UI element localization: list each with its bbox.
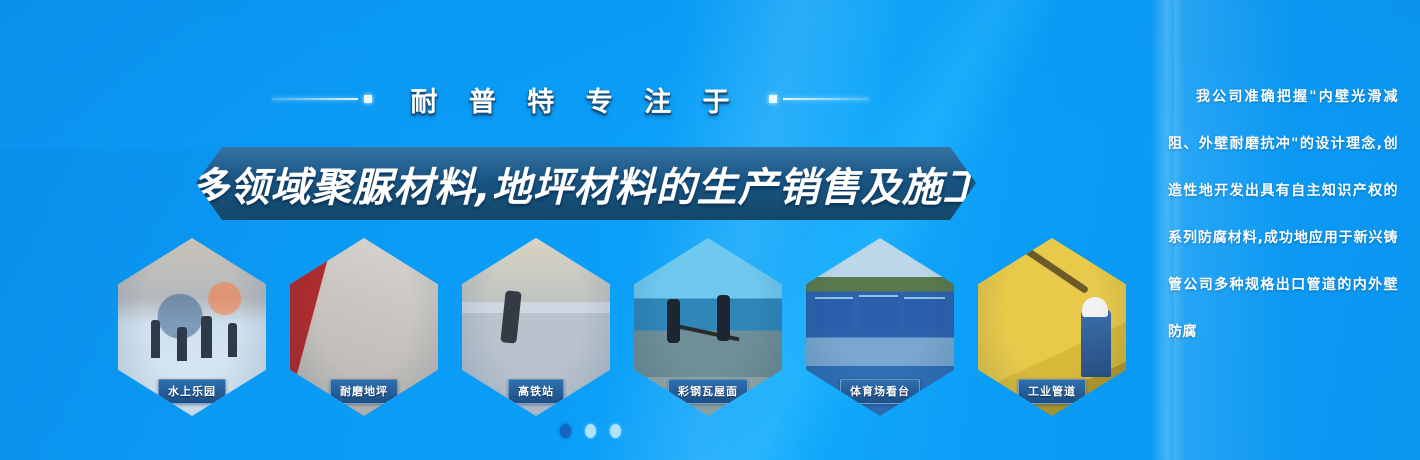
hexagon-item-pipeline[interactable]: 工业管道: [978, 238, 1126, 416]
headline-plate: 多领域聚脲材料,地坪材料的生产销售及施工: [196, 147, 976, 220]
carousel-dot-1[interactable]: [560, 424, 571, 438]
hexagon-label: 彩钢瓦屋面: [668, 379, 748, 404]
decorative-line-dot: [769, 95, 777, 103]
carousel-dot-3[interactable]: [610, 424, 621, 438]
hexagon-label: 工业管道: [1018, 379, 1086, 404]
hexagon-label: 水上乐园: [158, 379, 226, 404]
decorative-line-bar: [783, 98, 869, 100]
hexagon-label: 体育场看台: [840, 379, 920, 404]
decorative-line-bar: [272, 98, 358, 100]
decorative-line-dot: [364, 95, 372, 103]
subheadline-text: 耐 普 特 专 注 于: [400, 80, 741, 119]
hexagon-label: 高铁站: [508, 379, 564, 404]
hexagon-item-rail-station[interactable]: 高铁站: [462, 238, 610, 416]
carousel-dot-2[interactable]: [585, 424, 596, 438]
hexagon-item-floor[interactable]: 耐磨地坪: [290, 238, 438, 416]
hexagon-item-water-park[interactable]: 水上乐园: [118, 238, 266, 416]
subheadline-row: 耐 普 特 专 注 于: [0, 78, 1140, 120]
carousel-dots[interactable]: [0, 424, 1180, 438]
hexagon-item-stadium[interactable]: 体育场看台: [806, 238, 954, 416]
decorative-line-left-icon: [272, 92, 376, 106]
side-paragraph: 我公司准确把握"内壁光滑减阻、外壁耐磨抗冲"的设计理念,创造性地开发出具有自主知…: [1168, 74, 1398, 356]
decorative-line-right-icon: [765, 92, 869, 106]
hero-banner: 耐 普 特 专 注 于 多领域聚脲材料,地坪材料的生产销售及施工 水上乐园 耐磨…: [0, 0, 1420, 460]
headline-text: 多领域聚脲材料,地坪材料的生产销售及施工: [188, 155, 983, 213]
hexagon-label: 耐磨地坪: [330, 379, 398, 404]
hexagon-gallery: 水上乐园 耐磨地坪 高铁站 彩钢瓦屋面: [118, 238, 1128, 418]
hexagon-item-steel-roof[interactable]: 彩钢瓦屋面: [634, 238, 782, 416]
